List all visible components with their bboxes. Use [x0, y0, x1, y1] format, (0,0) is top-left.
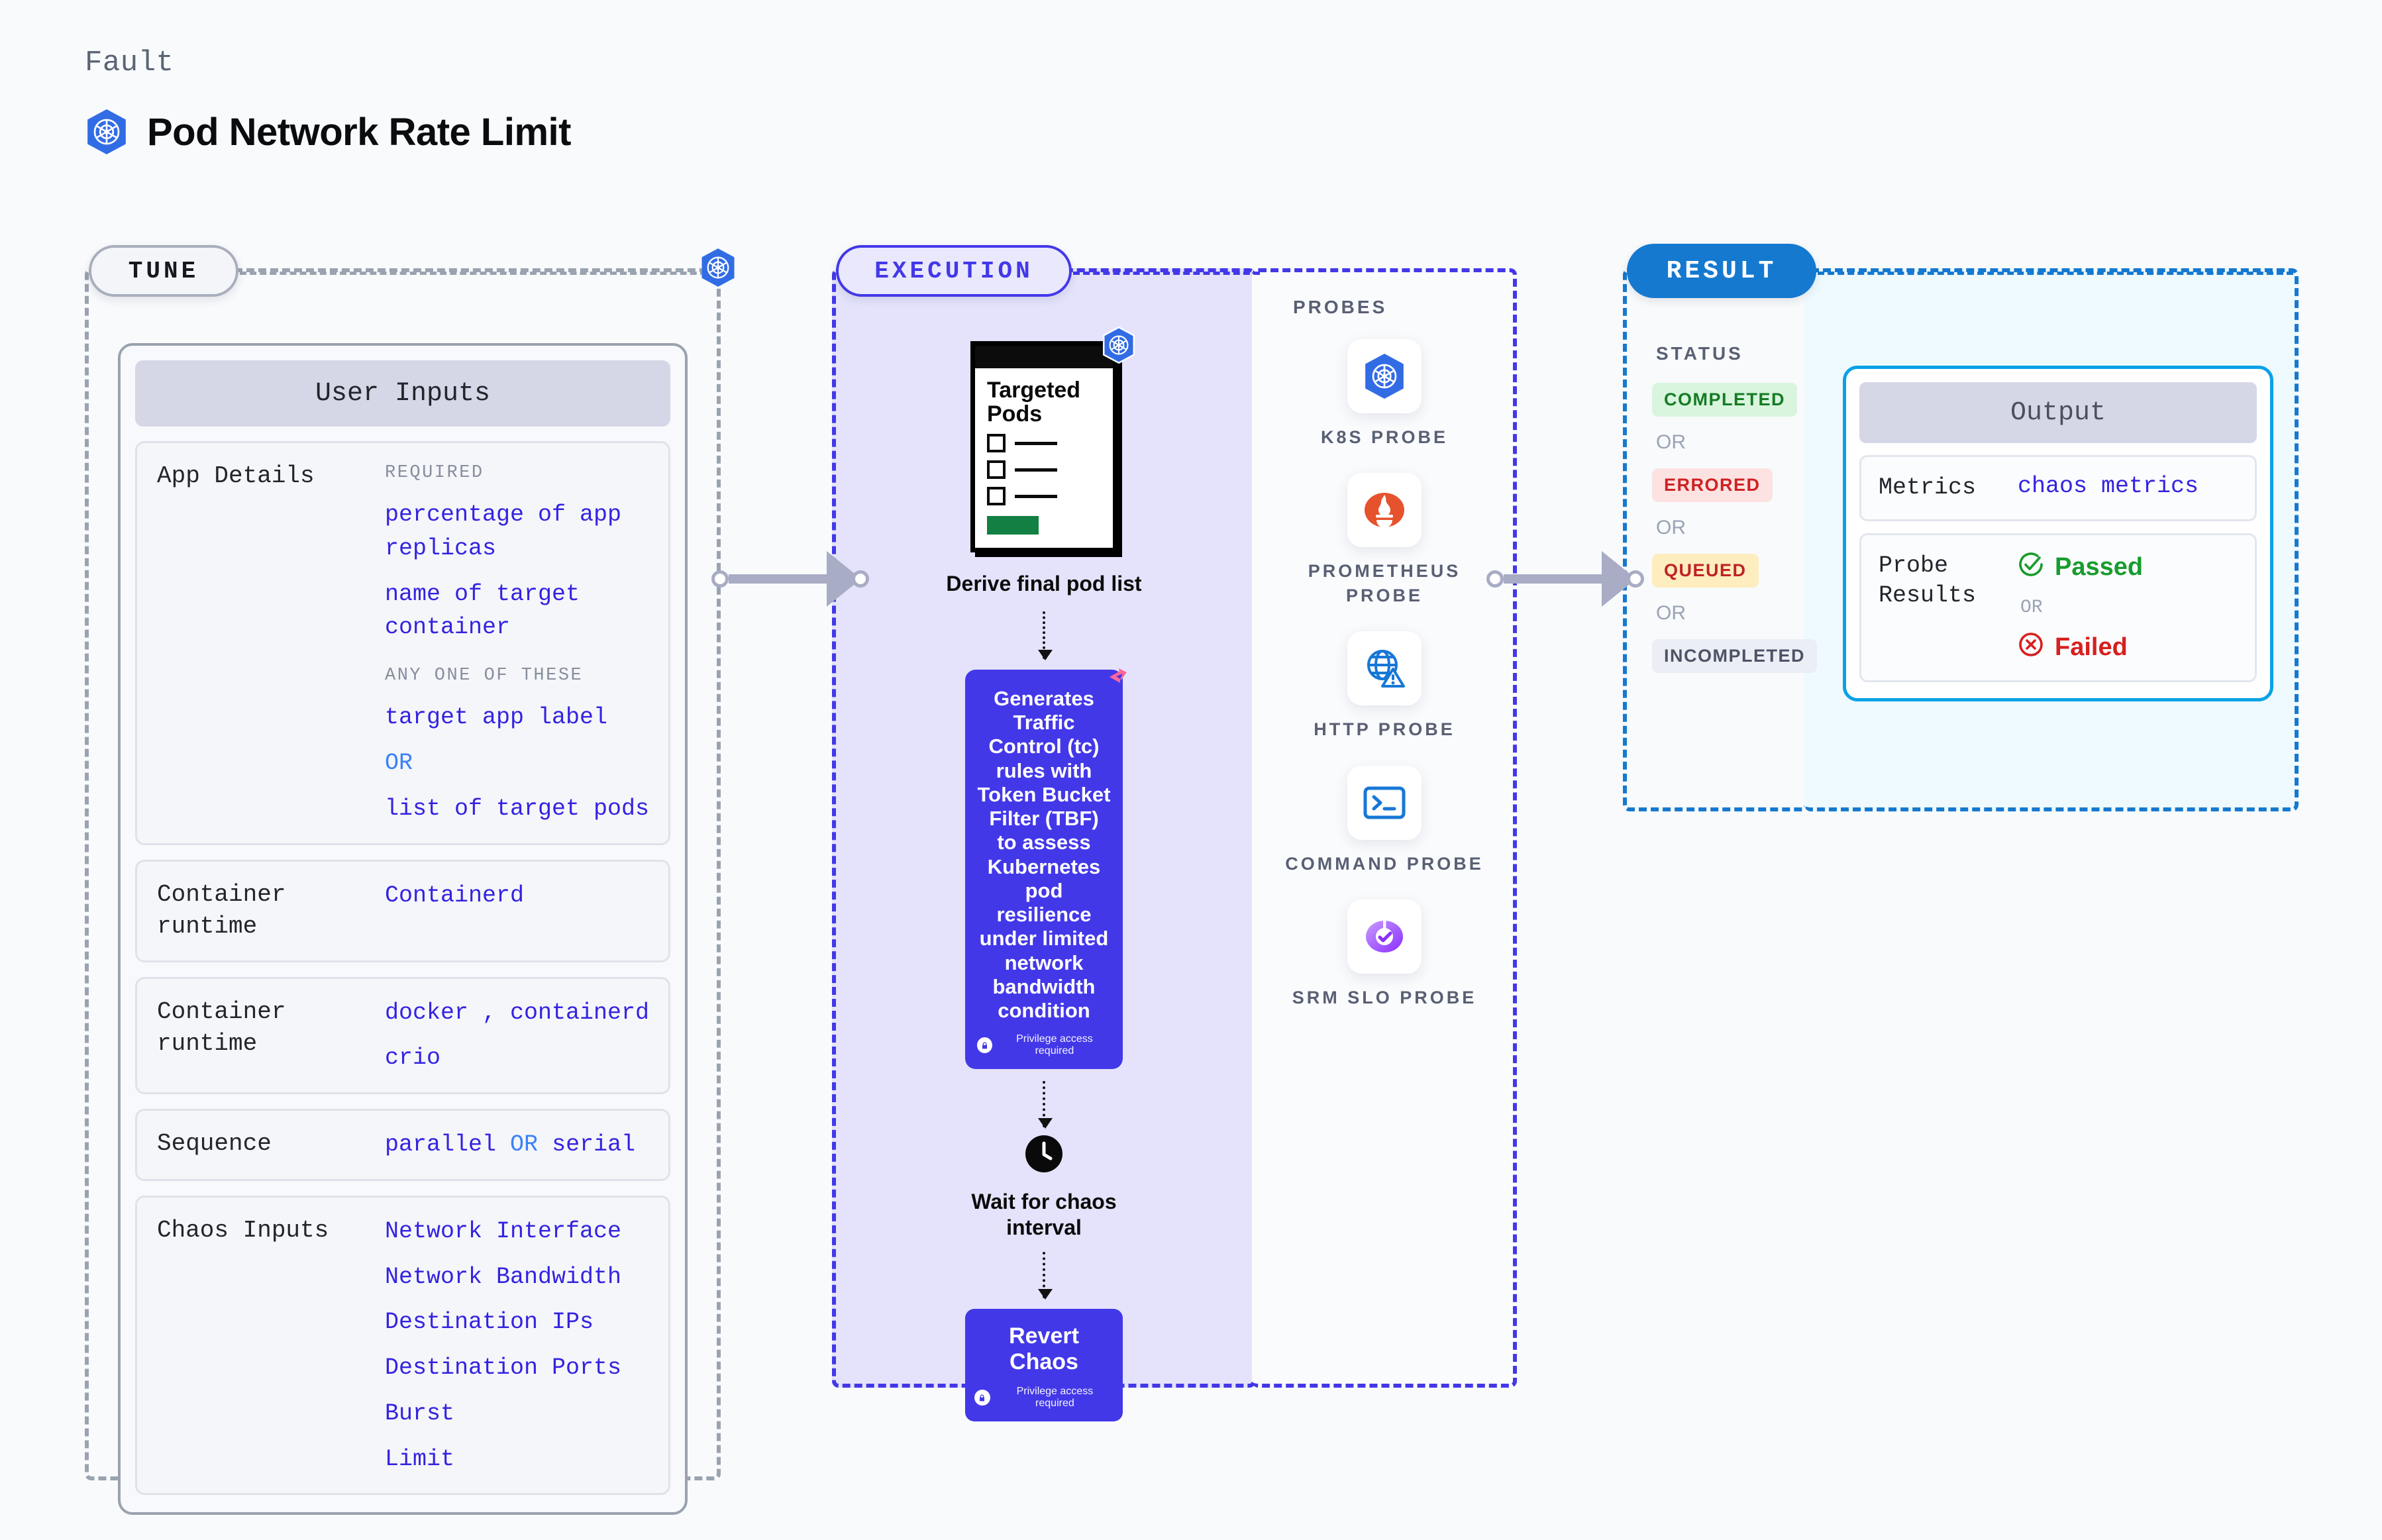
status-badge-errored: ERRORED — [1652, 468, 1773, 502]
input-value: docker , containerd — [385, 1000, 649, 1026]
output-row-metrics: Metrics chaos metrics — [1859, 455, 2257, 521]
failed-label: Failed — [2055, 633, 2128, 662]
kubernetes-icon — [699, 248, 737, 291]
passed-label: Passed — [2055, 553, 2143, 582]
input-value: serial — [552, 1131, 635, 1158]
kubernetes-icon — [1102, 327, 1136, 367]
input-value: percentage of app replicas — [385, 498, 651, 566]
input-key: Container runtime — [157, 996, 376, 1076]
required-label: REQUIRED — [385, 460, 651, 486]
input-key: Sequence — [157, 1128, 376, 1162]
status-list: COMPLETED OR ERRORED OR QUEUED OR INCOMP… — [1652, 383, 1811, 673]
connector-dot — [852, 570, 869, 588]
input-row-container-runtime-options: Container runtime docker , containerd cr… — [135, 977, 670, 1095]
status-section-title: STATUS — [1656, 343, 1743, 364]
tune-connector-line — [240, 272, 717, 275]
pod-list-item — [987, 434, 1101, 452]
fault-eyebrow: Fault — [85, 46, 571, 79]
output-value: Passed OR Failed — [2018, 551, 2242, 664]
checkbox-icon — [987, 460, 1006, 479]
input-values: Containerd — [385, 879, 651, 943]
input-key: Chaos Inputs — [157, 1215, 376, 1476]
privilege-note: Privilege access required — [977, 1033, 1111, 1057]
input-value: crio — [385, 1041, 651, 1075]
input-value: parallel — [385, 1131, 496, 1158]
or-separator: OR — [385, 746, 651, 780]
clock-icon — [1025, 1135, 1062, 1176]
placeholder-line — [1015, 468, 1057, 472]
anyone-label: ANY ONE OF THESE — [385, 663, 651, 689]
input-values: REQUIRED percentage of app replicas name… — [385, 460, 651, 826]
probe-label: SRM SLO PROBE — [1292, 986, 1477, 1009]
status-badge-incompleted: INCOMPLETED — [1652, 639, 1817, 673]
probe-label: COMMAND PROBE — [1285, 852, 1484, 876]
title-row: Pod Network Rate Limit — [85, 109, 571, 155]
status-badge-completed: COMPLETED — [1652, 383, 1797, 417]
input-row-sequence: Sequence parallel OR serial — [135, 1109, 670, 1181]
chaos-description-text: Generates Traffic Control (tc) rules wit… — [977, 687, 1111, 1023]
privilege-note-text: Privilege access required — [998, 1033, 1111, 1057]
input-values: parallel OR serial — [385, 1128, 651, 1162]
probe-item-command[interactable]: COMMAND PROBE — [1285, 766, 1484, 876]
input-value: Limit — [385, 1443, 651, 1476]
check-circle-icon — [2018, 551, 2044, 584]
lock-icon — [974, 1390, 990, 1406]
privilege-note-text: Privilege access required — [996, 1386, 1113, 1410]
wait-for-chaos-label: Wait for chaos interval — [968, 1189, 1120, 1240]
kubernetes-icon — [1347, 339, 1422, 413]
derive-pod-list-label: Derive final pod list — [946, 571, 1141, 596]
probe-item-srm-slo[interactable]: SRM SLO PROBE — [1285, 899, 1484, 1009]
probes-list: K8S PROBE PROMETHEUS PROBE — [1252, 339, 1517, 1010]
input-value: Destination IPs — [385, 1306, 651, 1339]
x-circle-icon — [2018, 631, 2044, 664]
input-key: Container runtime — [157, 879, 376, 943]
flow-connector-arrow — [711, 551, 869, 607]
probe-label: K8S PROBE — [1321, 425, 1448, 449]
status-badge-queued: QUEUED — [1652, 554, 1759, 588]
placeholder-line — [1015, 495, 1057, 498]
stage-badge-result[interactable]: RESULT — [1627, 244, 1816, 298]
checkbox-icon — [987, 487, 1006, 505]
probe-label: PROMETHEUS PROBE — [1285, 559, 1484, 607]
input-key: App Details — [157, 460, 376, 826]
result-connector-line — [1818, 272, 2293, 275]
connector-dot — [1486, 570, 1504, 588]
input-values: Network Interface Network Bandwidth Dest… — [385, 1215, 651, 1476]
card-titlebar — [975, 346, 1113, 368]
globe-warning-icon — [1347, 631, 1422, 705]
connector-bar — [1504, 574, 1603, 584]
connector-bar — [729, 574, 828, 584]
connector-dot — [711, 570, 729, 588]
input-value: list of target pods — [385, 792, 651, 826]
or-separator: OR — [1656, 602, 1811, 625]
output-title: Output — [1859, 382, 2257, 443]
srm-slo-icon — [1347, 899, 1422, 974]
progress-bar — [987, 516, 1039, 535]
user-inputs-title: User Inputs — [135, 360, 670, 427]
execution-flow: Targeted Pods Derive fi — [832, 268, 1256, 1421]
probes-section-title: PROBES — [1293, 297, 1387, 318]
checkbox-icon — [987, 434, 1006, 452]
output-value: chaos metrics — [2018, 473, 2242, 503]
output-key: Metrics — [1879, 473, 2018, 503]
input-value: Burst — [385, 1397, 651, 1431]
probe-item-prometheus[interactable]: PROMETHEUS PROBE — [1285, 473, 1484, 607]
targeted-pods-title: Targeted Pods — [987, 379, 1101, 426]
probe-verdict-passed: Passed — [2018, 551, 2242, 584]
lock-icon — [977, 1037, 992, 1053]
output-row-probe-results: Probe Results Passed OR — [1859, 533, 2257, 682]
litmus-chaos-icon — [1103, 664, 1129, 694]
probe-item-http[interactable]: HTTP PROBE — [1285, 631, 1484, 741]
pod-list-item — [987, 460, 1101, 479]
kubernetes-icon — [85, 109, 129, 155]
stage-badge-tune[interactable]: TUNE — [89, 245, 238, 297]
output-card: Output Metrics chaos metrics Probe Resul… — [1843, 366, 2273, 701]
page-title: Pod Network Rate Limit — [147, 110, 571, 154]
flow-arrow-icon — [1043, 1081, 1045, 1127]
privilege-note: Privilege access required — [974, 1386, 1113, 1410]
connector-dot — [1627, 570, 1644, 588]
input-row-app-details: App Details REQUIRED percentage of app r… — [135, 441, 670, 845]
input-value: Containerd — [385, 882, 524, 909]
placeholder-line — [1015, 442, 1057, 445]
page-header: Fault Pod Network Rate Limit — [85, 46, 571, 155]
input-value: Network Bandwidth — [385, 1260, 651, 1294]
flow-connector-arrow — [1486, 551, 1644, 607]
input-values: docker , containerd crio — [385, 996, 651, 1076]
flow-arrow-icon — [1043, 611, 1045, 659]
output-key: Probe Results — [1879, 551, 2018, 664]
input-value: Destination Ports — [385, 1351, 651, 1385]
probe-item-k8s[interactable]: K8S PROBE — [1285, 339, 1484, 449]
prometheus-icon — [1347, 473, 1422, 547]
or-separator: OR — [1656, 431, 1811, 454]
or-separator: OR — [2020, 597, 2242, 618]
input-value: Network Interface — [385, 1218, 621, 1245]
flow-arrow-icon — [1043, 1252, 1045, 1298]
or-separator: OR — [1656, 517, 1811, 539]
pod-list-item — [987, 487, 1101, 505]
revert-chaos-label: Revert Chaos — [974, 1323, 1113, 1375]
input-row-chaos-inputs: Chaos Inputs Network Interface Network B… — [135, 1196, 670, 1496]
input-value: target app label — [385, 701, 651, 735]
input-value: name of target container — [385, 578, 651, 645]
probe-label: HTTP PROBE — [1314, 717, 1455, 741]
or-separator: OR — [510, 1131, 538, 1158]
targeted-pods-card: Targeted Pods — [970, 341, 1117, 552]
user-inputs-card: User Inputs App Details REQUIRED percent… — [118, 343, 688, 1515]
chaos-description-box: Generates Traffic Control (tc) rules wit… — [965, 670, 1123, 1070]
input-row-container-runtime: Container runtime Containerd — [135, 860, 670, 962]
terminal-icon — [1347, 766, 1422, 840]
probe-verdict-failed: Failed — [2018, 631, 2242, 664]
revert-chaos-box: Revert Chaos Privilege access required — [965, 1309, 1123, 1421]
